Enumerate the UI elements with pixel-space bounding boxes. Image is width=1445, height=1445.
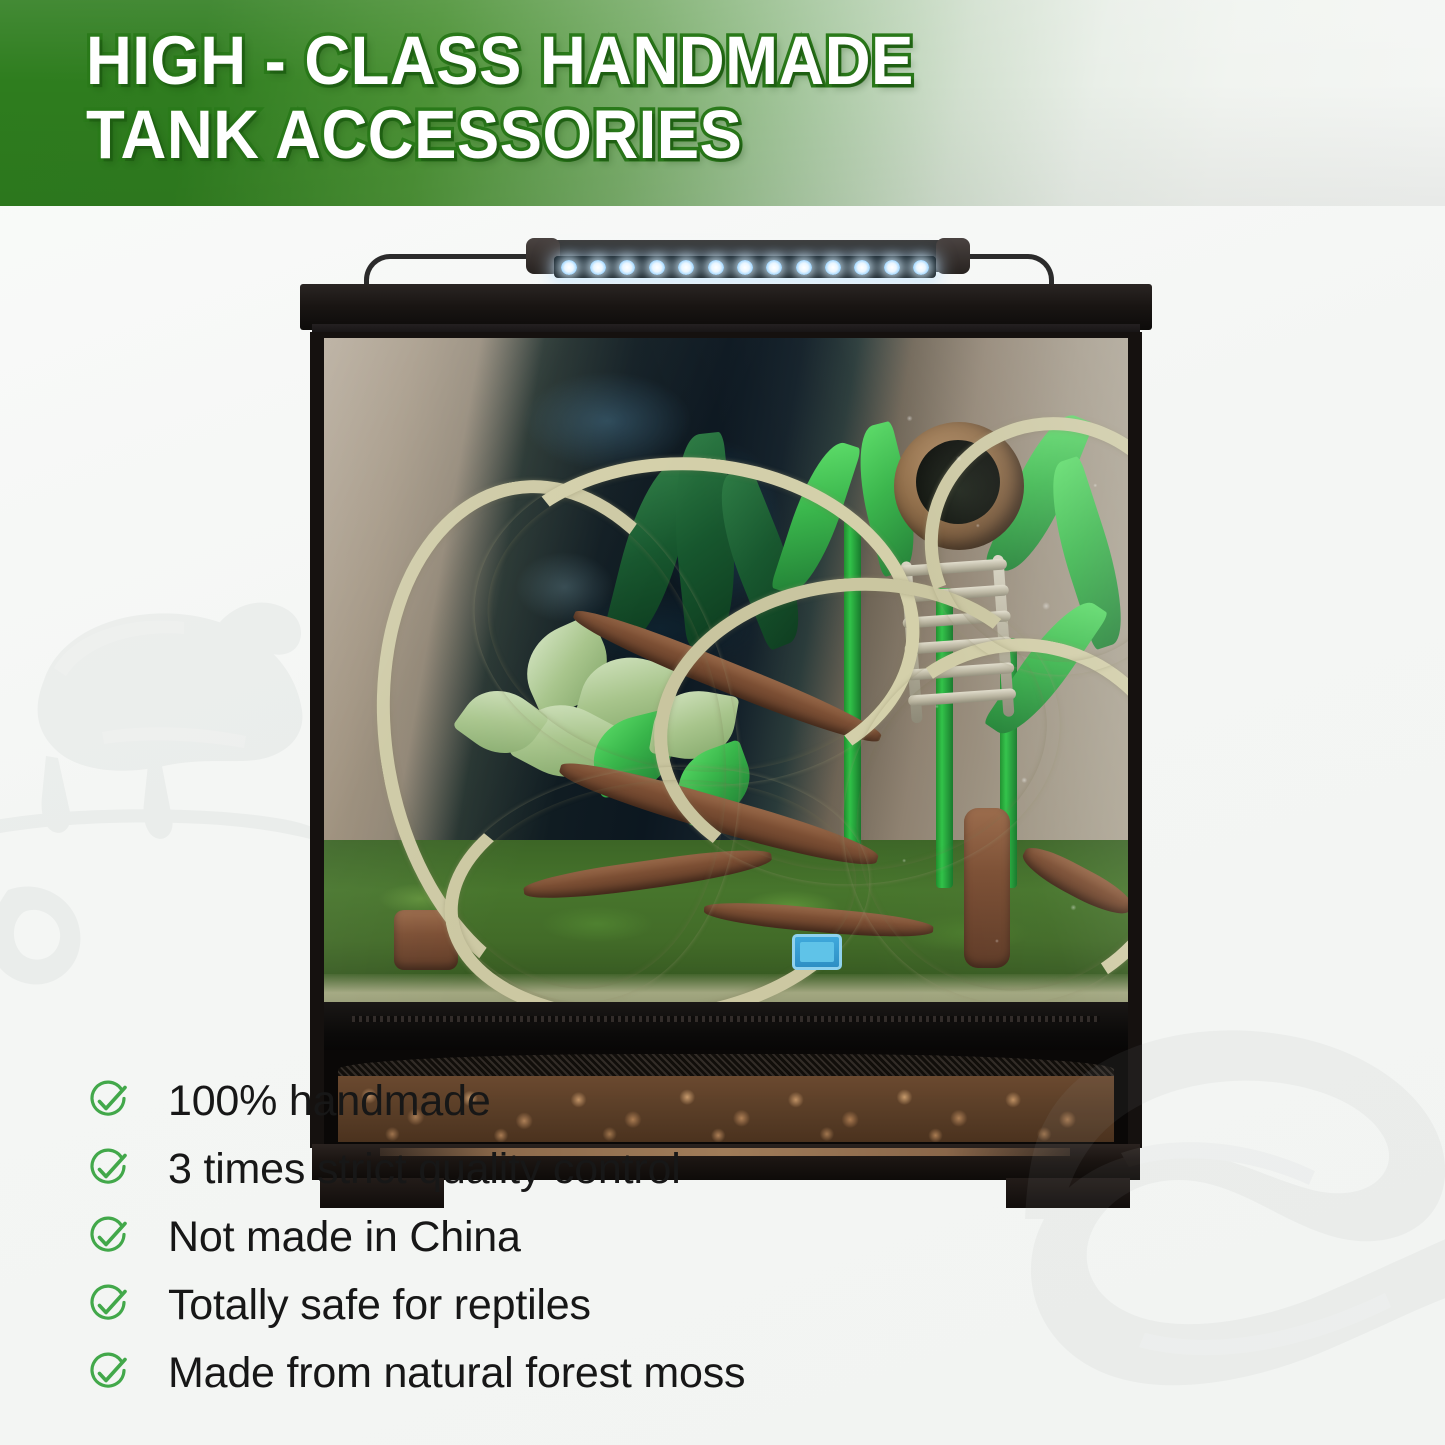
led-dot	[561, 260, 577, 275]
check-circle-icon	[86, 1351, 130, 1395]
digital-thermometer	[792, 934, 842, 970]
feature-label: Totally safe for reptiles	[168, 1281, 591, 1330]
check-circle-icon	[86, 1147, 130, 1191]
feature-label: Made from natural forest moss	[168, 1349, 745, 1398]
list-item: Made from natural forest moss	[86, 1340, 1086, 1406]
led-dot	[590, 260, 606, 275]
list-item: Totally safe for reptiles	[86, 1272, 1086, 1338]
led-dot	[649, 260, 665, 275]
check-circle-icon	[86, 1079, 130, 1123]
thermometer-display	[800, 942, 834, 962]
tank-frame	[310, 332, 1142, 1104]
list-item: 3 times strict quality control	[86, 1136, 1086, 1202]
list-item: Not made in China	[86, 1204, 1086, 1270]
list-item: 100% handmade	[86, 1068, 1086, 1134]
product-marketing-page: HIGH - CLASS HANDMADE TANK ACCESSORIES	[0, 0, 1445, 1445]
led-dot	[884, 260, 900, 275]
tank-lower-frame-bar	[310, 1002, 1142, 1056]
check-circle-icon	[86, 1283, 130, 1327]
feature-list: 100% handmade 3 times strict quality con…	[86, 1068, 1086, 1408]
page-title: HIGH - CLASS HANDMADE TANK ACCESSORIES	[86, 24, 1098, 172]
led-strip	[554, 256, 936, 278]
led-dot	[796, 260, 812, 275]
led-dot	[766, 260, 782, 275]
chameleon-watermark	[0, 560, 314, 1000]
led-dot	[737, 260, 753, 275]
feature-label: 100% handmade	[168, 1077, 491, 1126]
check-circle-icon	[86, 1215, 130, 1259]
led-dot	[854, 260, 870, 275]
led-dot	[678, 260, 694, 275]
led-dot	[619, 260, 635, 275]
glass-condensation	[855, 338, 1128, 1008]
terrarium-product-photo	[286, 236, 1166, 1036]
feature-label: 3 times strict quality control	[168, 1145, 681, 1194]
led-dot	[708, 260, 724, 275]
led-dot	[825, 260, 841, 275]
feature-label: Not made in China	[168, 1213, 521, 1262]
page-title-line-2: TANK ACCESSORIES	[86, 98, 1098, 172]
header-banner: HIGH - CLASS HANDMADE TANK ACCESSORIES	[0, 0, 1445, 206]
led-endcap-right	[936, 238, 970, 274]
drainage-mesh	[352, 1016, 1100, 1022]
tank-glass-interior	[310, 332, 1142, 1008]
led-dot	[913, 260, 929, 275]
page-title-line-1: HIGH - CLASS HANDMADE	[86, 24, 1098, 98]
